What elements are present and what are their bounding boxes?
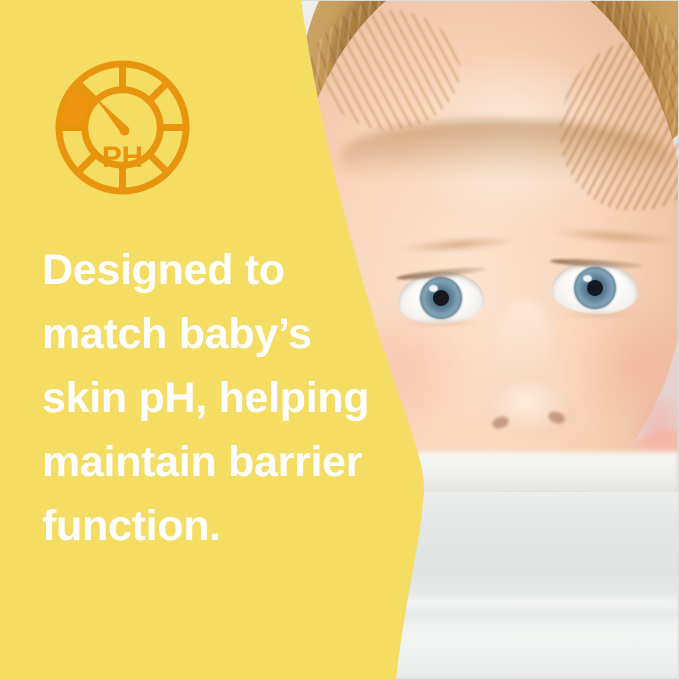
headline: Designed to match baby’s skin pH, helpin… — [42, 238, 412, 558]
headline-line-3: skin pH, helping — [42, 366, 412, 430]
gauge-ph-label: PH — [102, 141, 143, 174]
headline-line-2: match baby’s — [42, 302, 412, 366]
product-benefit-image: PH Designed to match baby’s skin pH, hel… — [0, 0, 679, 679]
headline-line-4: maintain barrier — [42, 430, 412, 494]
headline-line-5: function. — [42, 494, 412, 558]
gauge-needle-hub — [120, 126, 130, 136]
headline-line-1: Designed to — [42, 238, 412, 302]
ph-gauge-icon: PH — [53, 58, 192, 197]
panel-content: PH Designed to match baby’s skin pH, hel… — [0, 0, 420, 679]
